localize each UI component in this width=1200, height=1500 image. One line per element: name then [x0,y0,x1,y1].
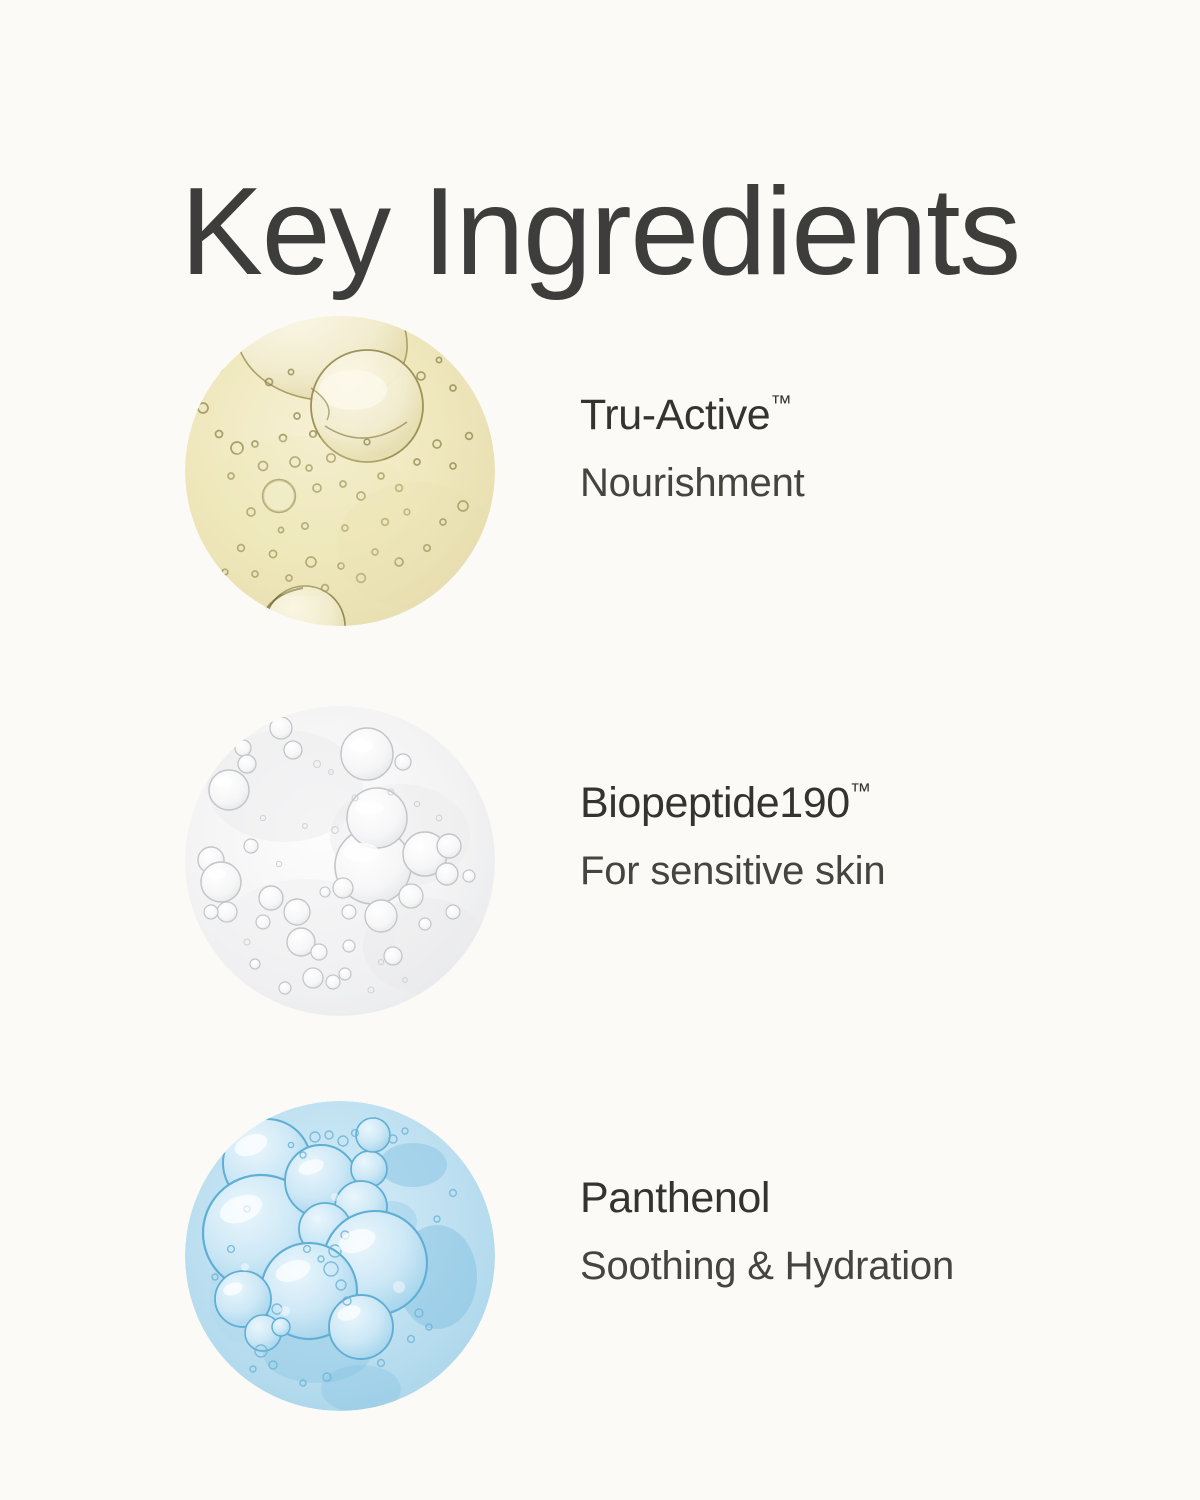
ingredient-text-block: Biopeptide190™ For sensitive skin [580,778,1160,895]
key-ingredients-page: Key Ingredients [0,0,1200,1500]
ingredient-description: Nourishment [580,459,1160,507]
blue-water-bubbles-swatch [185,1101,495,1411]
yellow-oil-texture-swatch [185,316,495,626]
ingredient-name: Panthenol [580,1173,1160,1224]
ingredient-name: Tru-Active™ [580,390,1160,441]
ingredient-row: Biopeptide190™ For sensitive skin [0,700,1200,1020]
ingredient-description: Soothing & Hydration [580,1242,1160,1290]
ingredient-name: Biopeptide190™ [580,778,1160,829]
ingredient-name-label: Biopeptide190 [580,779,850,827]
trademark-symbol: ™ [770,391,792,415]
ingredient-row: Panthenol Soothing & Hydration [0,1095,1200,1415]
ingredient-text-block: Tru-Active™ Nourishment [580,390,1160,507]
ingredient-row: Tru-Active™ Nourishment [0,310,1200,630]
page-title: Key Ingredients [0,161,1200,304]
clear-gel-texture-swatch [185,706,495,1016]
trademark-symbol: ™ [850,779,872,803]
ingredient-name-label: Tru-Active [580,391,770,439]
ingredient-name-label: Panthenol [580,1174,770,1222]
ingredient-text-block: Panthenol Soothing & Hydration [580,1173,1160,1290]
ingredient-description: For sensitive skin [580,847,1160,895]
